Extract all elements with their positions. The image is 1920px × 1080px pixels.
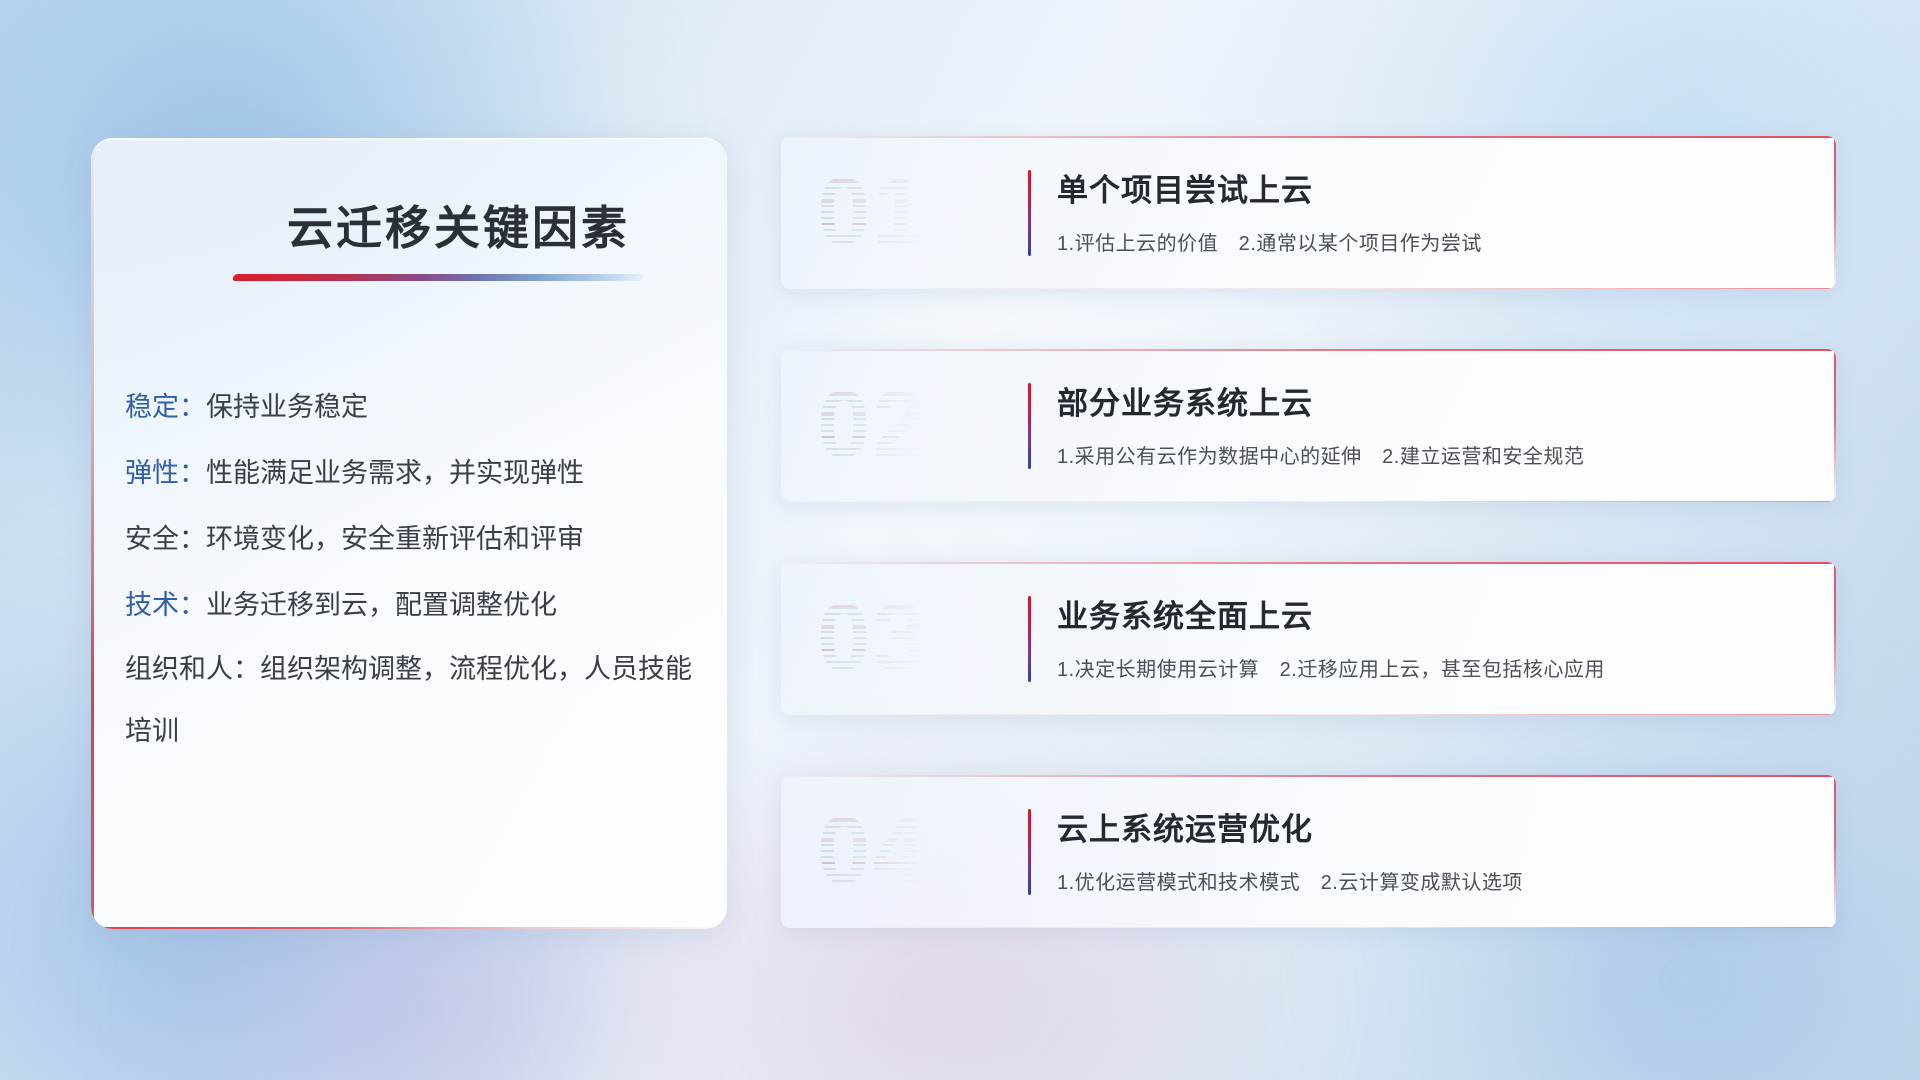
stage-title: 部分业务系统上云	[1057, 378, 1313, 423]
card-bottom-accent	[781, 288, 1836, 289]
stage-divider-bar	[1028, 596, 1031, 682]
stage-card-list: 01 01 单个项目尝试上云 1.评估上云的价值 2.通常以某个项目作为尝试 0…	[781, 136, 1836, 928]
factor-label: 组织和人：	[125, 654, 260, 684]
stage-number-watermark-red: 02	[817, 370, 928, 480]
factor-item-security: 安全：环境变化，安全重新评估和评审	[125, 506, 697, 572]
stage-divider-bar	[1028, 809, 1031, 895]
panel-top-highlight	[91, 138, 727, 140]
page-title: 云迁移关键因素	[287, 192, 630, 258]
stage-card-02[interactable]: 02 02 部分业务系统上云 1.采用公有云作为数据中心的延伸 2.建立运营和安…	[781, 349, 1836, 502]
factor-label: 安全：	[125, 524, 206, 554]
card-top-accent	[781, 136, 1836, 138]
stage-card-04[interactable]: 04 04 云上系统运营优化 1.优化运营模式和技术模式 2.云计算变成默认选项	[781, 775, 1836, 928]
stage-subtitle: 1.决定长期使用云计算 2.迁移应用上云，甚至包括核心应用	[1057, 653, 1605, 682]
factor-item-technology: 技术：业务迁移到云，配置调整优化	[125, 572, 697, 638]
card-right-accent	[1834, 349, 1836, 502]
card-bottom-accent	[781, 501, 1836, 502]
card-right-accent	[1834, 775, 1836, 928]
factor-item-organization-people: 组织和人：组织架构调整，流程优化，人员技能培训	[125, 638, 697, 762]
stage-number-watermark-red: 01	[817, 157, 928, 267]
factor-label: 技术：	[125, 590, 206, 620]
key-factors-panel: 云迁移关键因素 稳定：保持业务稳定 弹性：性能满足业务需求，并实现弹性 安全：环…	[91, 138, 727, 929]
card-bottom-accent	[781, 714, 1836, 715]
stage-title: 业务系统全面上云	[1057, 591, 1313, 636]
factor-item-elasticity: 弹性：性能满足业务需求，并实现弹性	[125, 440, 697, 506]
factor-text: 性能满足业务需求，并实现弹性	[206, 458, 584, 488]
card-top-accent	[781, 562, 1836, 564]
factor-text: 环境变化，安全重新评估和评审	[206, 524, 584, 554]
stage-title: 云上系统运营优化	[1057, 804, 1313, 849]
stage-card-03[interactable]: 03 03 业务系统全面上云 1.决定长期使用云计算 2.迁移应用上云，甚至包括…	[781, 562, 1836, 715]
card-right-accent	[1834, 136, 1836, 289]
stage-divider-bar	[1028, 170, 1031, 256]
card-top-accent	[781, 775, 1836, 777]
card-bottom-accent	[781, 927, 1836, 928]
stage-subtitle: 1.采用公有云作为数据中心的延伸 2.建立运营和安全规范	[1057, 440, 1584, 469]
card-right-accent	[1834, 562, 1836, 715]
stage-title: 单个项目尝试上云	[1057, 165, 1313, 210]
factor-list: 稳定：保持业务稳定 弹性：性能满足业务需求，并实现弹性 安全：环境变化，安全重新…	[125, 374, 697, 762]
stage-subtitle: 1.评估上云的价值 2.通常以某个项目作为尝试	[1057, 227, 1482, 256]
stage-card-01[interactable]: 01 01 单个项目尝试上云 1.评估上云的价值 2.通常以某个项目作为尝试	[781, 136, 1836, 289]
stage-number-watermark-red: 03	[817, 583, 928, 693]
card-top-accent	[781, 349, 1836, 351]
factor-item-stability: 稳定：保持业务稳定	[125, 374, 697, 440]
stage-subtitle: 1.优化运营模式和技术模式 2.云计算变成默认选项	[1057, 866, 1523, 895]
title-gradient-rule	[243, 274, 643, 281]
stage-number-watermark-red: 04	[817, 796, 928, 906]
factor-label: 稳定：	[125, 392, 206, 422]
factor-text: 业务迁移到云，配置调整优化	[206, 590, 557, 620]
factor-text: 保持业务稳定	[206, 392, 368, 422]
factor-label: 弹性：	[125, 458, 206, 488]
stage-divider-bar	[1028, 383, 1031, 469]
